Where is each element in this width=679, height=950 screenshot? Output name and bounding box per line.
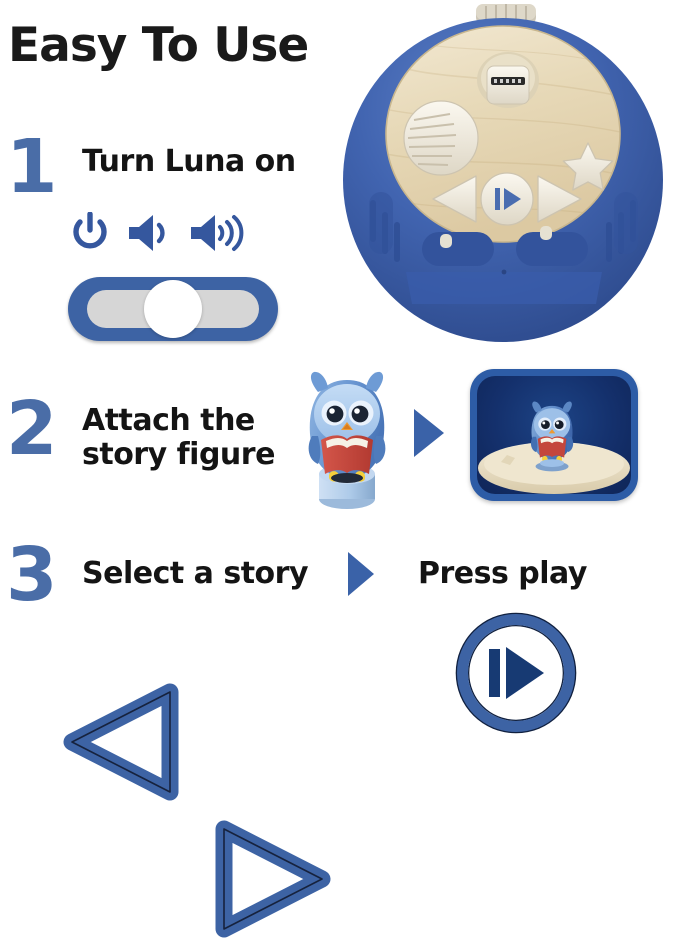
next-arrow-button[interactable] <box>206 813 679 950</box>
device-illustration <box>330 4 676 352</box>
device-play-button <box>481 173 533 225</box>
step-2-number: 2 <box>6 392 58 466</box>
panel-scene <box>477 376 631 494</box>
step-3-number: 3 <box>6 538 58 612</box>
step-3-title-right: Press play <box>418 557 587 591</box>
step-1-number: 1 <box>6 130 58 204</box>
device-volume-dial <box>404 101 478 175</box>
device-connector-port <box>477 52 539 108</box>
step-2-arrow-icon <box>414 409 444 457</box>
owl-story-figure <box>296 362 398 512</box>
step-2-result-panel <box>470 369 638 501</box>
step-1-icon-row <box>70 212 250 259</box>
power-toggle-slider[interactable] <box>68 277 278 341</box>
toggle-knob[interactable] <box>144 280 202 338</box>
device-battery-door <box>406 272 602 304</box>
power-icon <box>70 212 110 259</box>
play-icon <box>489 647 544 699</box>
infographic-root: Easy To Use <box>0 0 679 751</box>
play-button[interactable] <box>457 614 575 732</box>
owl-on-device-illustration <box>477 376 631 494</box>
previous-arrow-button[interactable] <box>58 676 679 813</box>
step-2-title-line1: Attach the <box>82 404 275 438</box>
play-bar-glyph <box>489 649 500 697</box>
toggle-track <box>87 290 259 328</box>
step-2-title: Attach the story figure <box>82 404 275 471</box>
volume-high-icon <box>188 212 250 259</box>
device-pinhole <box>502 270 507 275</box>
step-3-arrow-icon <box>348 552 374 596</box>
page-title: Easy To Use <box>8 22 308 69</box>
volume-low-icon <box>126 212 172 259</box>
step-1-title: Turn Luna on <box>82 145 296 179</box>
step-3-title: Select a story <box>82 557 308 591</box>
device-photo <box>330 4 676 352</box>
step-2-title-line2: story figure <box>82 438 275 472</box>
play-triangle-glyph <box>506 647 544 699</box>
